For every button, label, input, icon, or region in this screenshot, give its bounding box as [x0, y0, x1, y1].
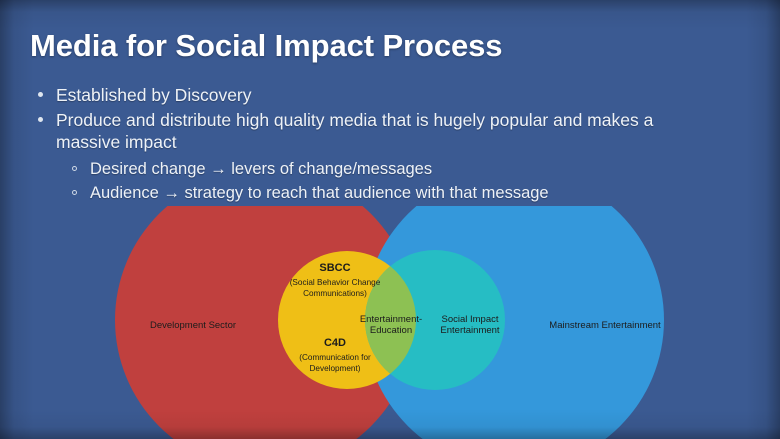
bullet-dot-icon	[38, 117, 43, 122]
bullet-sublist: Desired change → levers of change/messag…	[30, 157, 690, 205]
venn-diagram	[0, 206, 780, 439]
bullet-item-2-text: Produce and distribute high quality medi…	[56, 110, 653, 153]
bullet-item-1: Established by Discovery	[30, 84, 690, 107]
bullet-circle-icon	[72, 190, 77, 195]
bullet-dot-icon	[38, 92, 43, 97]
bullet-subitem-2-text: Audience → strategy to reach that audien…	[90, 184, 549, 202]
page-title: Media for Social Impact Process	[30, 28, 502, 64]
bullet-item-2: Produce and distribute high quality medi…	[30, 109, 690, 154]
bullet-subitem-2: Audience → strategy to reach that audien…	[30, 181, 690, 205]
bullet-list: Established by Discovery Produce and dis…	[30, 84, 690, 205]
bullet-circle-icon	[72, 166, 77, 171]
presentation-slide: Media for Social Impact Process Establis…	[0, 0, 780, 439]
bullet-subitem-1-text: Desired change → levers of change/messag…	[90, 160, 432, 178]
bullet-subitem-1: Desired change → levers of change/messag…	[30, 157, 690, 181]
bullet-item-1-text: Established by Discovery	[56, 85, 252, 105]
